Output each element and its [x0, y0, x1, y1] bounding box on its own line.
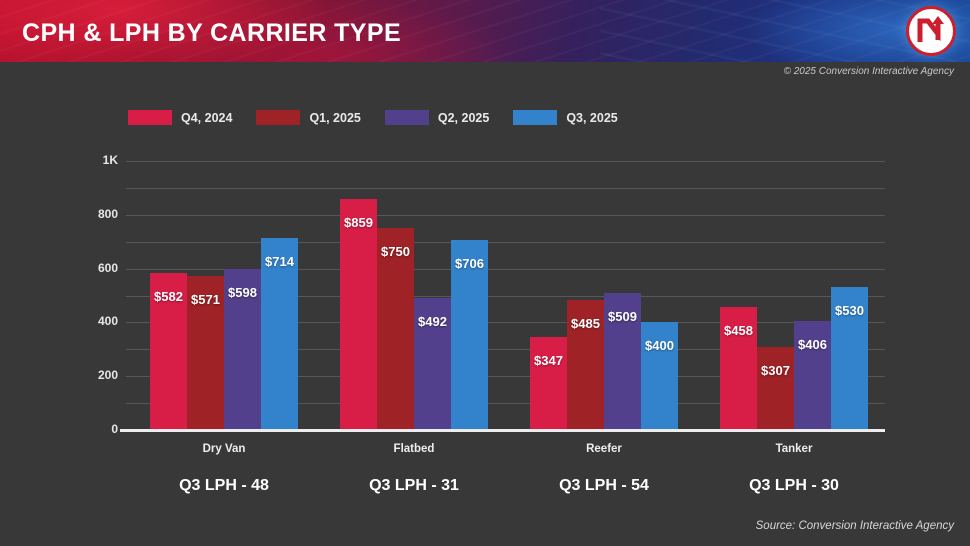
slide-canvas: CPH & LPH BY CARRIER TYPE © 2025 Convers…: [0, 0, 970, 546]
legend-label-q4-2024: Q4, 2024: [181, 111, 232, 125]
bar-tanker-q2-2025[interactable]: $406: [794, 321, 831, 430]
bar-dry-van-q1-2025[interactable]: $571: [187, 276, 224, 430]
legend-item-q4-2024[interactable]: Q4, 2024: [128, 110, 232, 125]
legend-label-q3-2025: Q3, 2025: [566, 111, 617, 125]
legend-swatch-q1-2025: [256, 110, 300, 125]
y-axis-tick-600: 600: [78, 261, 118, 275]
gridline: [126, 242, 885, 243]
legend-swatch-q3-2025: [513, 110, 557, 125]
copyright-notice: © 2025 Conversion Interactive Agency: [784, 66, 954, 77]
y-axis-tick-400: 400: [78, 314, 118, 328]
legend-item-q3-2025[interactable]: Q3, 2025: [513, 110, 617, 125]
bar-value-label: $406: [794, 337, 831, 352]
legend-item-q1-2025[interactable]: Q1, 2025: [256, 110, 360, 125]
gridline: [126, 161, 885, 162]
x-axis-baseline: [120, 429, 885, 432]
page-title: CPH & LPH BY CARRIER TYPE: [22, 19, 401, 48]
bar-value-label: $598: [224, 285, 261, 300]
bar-flatbed-q4-2024[interactable]: $859: [340, 199, 377, 430]
bar-dry-van-q2-2025[interactable]: $598: [224, 269, 261, 430]
lph-label-tanker: Q3 LPH - 30: [704, 477, 884, 495]
bar-tanker-q3-2025[interactable]: $530: [831, 287, 868, 430]
y-axis-tick-1K: 1K: [78, 153, 118, 167]
bar-dry-van-q3-2025[interactable]: $714: [261, 238, 298, 430]
bar-value-label: $571: [187, 292, 224, 307]
bar-value-label: $509: [604, 309, 641, 324]
bar-tanker-q1-2025[interactable]: $307: [757, 347, 794, 430]
bar-reefer-q1-2025[interactable]: $485: [567, 300, 604, 430]
lph-label-reefer: Q3 LPH - 54: [514, 477, 694, 495]
bar-flatbed-q1-2025[interactable]: $750: [377, 228, 414, 430]
bar-reefer-q2-2025[interactable]: $509: [604, 293, 641, 430]
bar-value-label: $492: [414, 314, 451, 329]
bar-value-label: $750: [377, 244, 414, 259]
lph-label-flatbed: Q3 LPH - 31: [324, 477, 504, 495]
bar-reefer-q3-2025[interactable]: $400: [641, 322, 678, 430]
bar-value-label: $530: [831, 303, 868, 318]
bar-flatbed-q3-2025[interactable]: $706: [451, 240, 488, 430]
legend-swatch-q4-2024: [128, 110, 172, 125]
y-axis-tick-200: 200: [78, 368, 118, 382]
bar-reefer-q4-2024[interactable]: $347: [530, 337, 567, 430]
conversion-n-arrow-logo-icon: [906, 6, 956, 56]
bar-value-label: $347: [530, 353, 567, 368]
category-label-reefer: Reefer: [524, 443, 684, 455]
bar-value-label: $307: [757, 363, 794, 378]
category-label-tanker: Tanker: [714, 443, 874, 455]
y-axis-tick-800: 800: [78, 207, 118, 221]
legend-swatch-q2-2025: [385, 110, 429, 125]
bar-value-label: $485: [567, 316, 604, 331]
bar-dry-van-q4-2024[interactable]: $582: [150, 273, 187, 430]
legend-label-q1-2025: Q1, 2025: [309, 111, 360, 125]
chart-legend: Q4, 2024 Q1, 2025 Q2, 2025 Q3, 2025: [128, 110, 642, 125]
source-note: Source: Conversion Interactive Agency: [756, 520, 954, 532]
category-label-flatbed: Flatbed: [334, 443, 494, 455]
bar-value-label: $400: [641, 338, 678, 353]
lph-label-dry-van: Q3 LPH - 48: [134, 477, 314, 495]
gridline: [126, 215, 885, 216]
y-axis-tick-0: 0: [78, 422, 118, 436]
bar-value-label: $714: [261, 254, 298, 269]
legend-label-q2-2025: Q2, 2025: [438, 111, 489, 125]
gridline: [126, 188, 885, 189]
bar-value-label: $859: [340, 215, 377, 230]
bar-flatbed-q2-2025[interactable]: $492: [414, 298, 451, 430]
legend-item-q2-2025[interactable]: Q2, 2025: [385, 110, 489, 125]
bar-tanker-q4-2024[interactable]: $458: [720, 307, 757, 430]
bar-value-label: $706: [451, 256, 488, 271]
bar-value-label: $582: [150, 289, 187, 304]
category-label-dry-van: Dry Van: [144, 443, 304, 455]
chart-plot-area: $582$571$598$714$859$750$492$706$347$485…: [126, 161, 885, 430]
bar-value-label: $458: [720, 323, 757, 338]
